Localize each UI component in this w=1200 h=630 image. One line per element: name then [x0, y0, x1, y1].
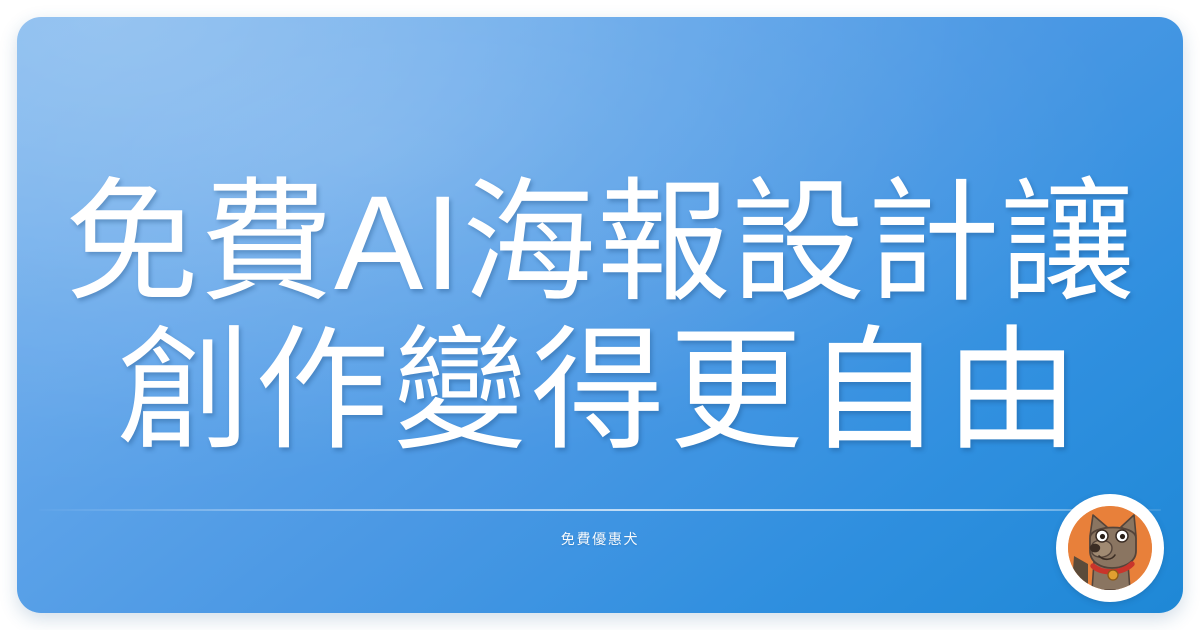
dog-avatar-icon — [1068, 506, 1152, 590]
headline-line-1: 免費AI海報設計讓 — [17, 177, 1183, 311]
poster-card: 免費AI海報設計讓 創作變得更自由 免費優惠犬 — [17, 17, 1183, 613]
headline-line-2: 創作變得更自由 — [17, 325, 1183, 459]
avatar — [1056, 494, 1164, 602]
footer-caption: 免費優惠犬 — [17, 529, 1183, 549]
poster-canvas: 免費AI海報設計讓 創作變得更自由 免費優惠犬 — [0, 0, 1200, 630]
footer-divider — [39, 509, 1161, 511]
poster-headline: 免費AI海報設計讓 創作變得更自由 — [17, 177, 1183, 459]
